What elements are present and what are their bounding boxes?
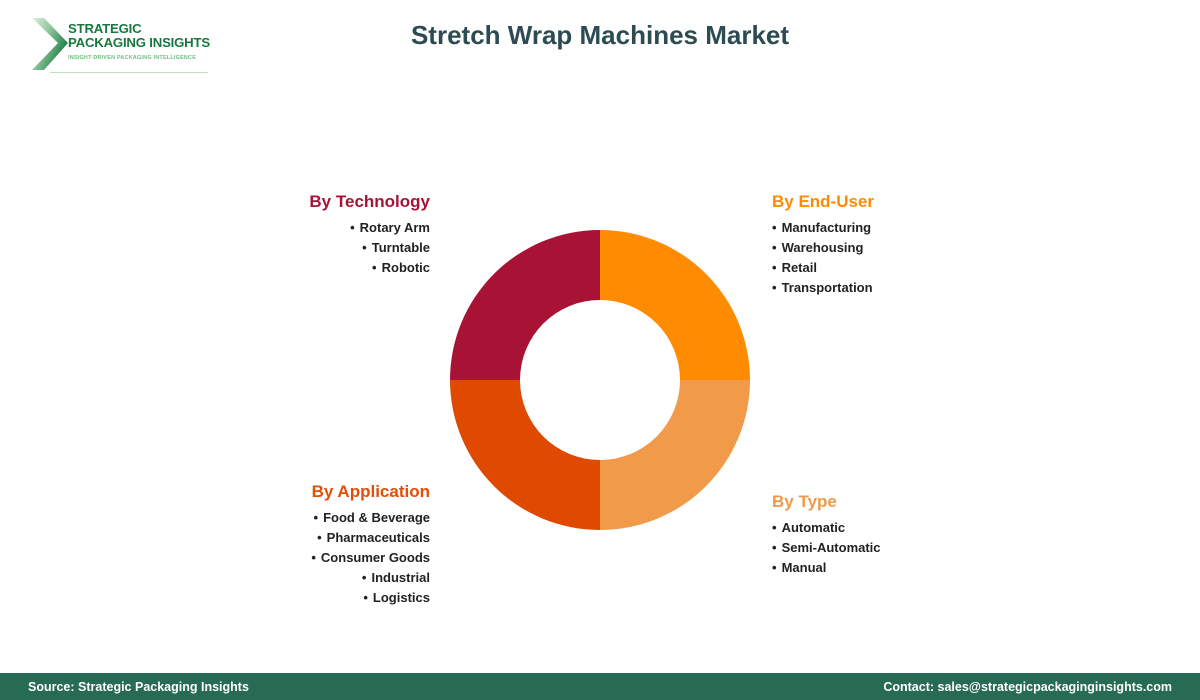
donut-segment-application[interactable] xyxy=(450,380,600,530)
list-item: Turntable xyxy=(180,238,430,258)
category-application-list: Food & Beverage Pharmaceuticals Consumer… xyxy=(180,508,430,608)
category-application: By Application Food & Beverage Pharmaceu… xyxy=(180,482,430,608)
list-item: Rotary Arm xyxy=(180,218,430,238)
list-item: Semi-Automatic xyxy=(772,538,1072,558)
footer-contact[interactable]: Contact: sales@strategicpackaginginsight… xyxy=(883,680,1172,694)
category-type: By Type Automatic Semi-Automatic Manual xyxy=(772,492,1072,578)
category-type-title: By Type xyxy=(772,492,1072,512)
list-item: Pharmaceuticals xyxy=(180,528,430,548)
list-item: Manual xyxy=(772,558,1072,578)
category-technology-list: Rotary Arm Turntable Robotic xyxy=(180,218,430,278)
list-item: Retail xyxy=(772,258,1072,278)
footer-bar: Source: Strategic Packaging Insights Con… xyxy=(0,673,1200,700)
list-item: Manufacturing xyxy=(772,218,1072,238)
category-type-list: Automatic Semi-Automatic Manual xyxy=(772,518,1072,578)
list-item: Robotic xyxy=(180,258,430,278)
category-enduser-title: By End-User xyxy=(772,192,1072,212)
logo-divider xyxy=(50,72,208,73)
list-item: Warehousing xyxy=(772,238,1072,258)
category-enduser: By End-User Manufacturing Warehousing Re… xyxy=(772,192,1072,298)
list-item: Transportation xyxy=(772,278,1072,298)
donut-chart-svg xyxy=(450,230,750,530)
list-item: Food & Beverage xyxy=(180,508,430,528)
list-item: Consumer Goods xyxy=(180,548,430,568)
page-title: Stretch Wrap Machines Market xyxy=(0,20,1200,51)
list-item: Industrial xyxy=(180,568,430,588)
category-application-title: By Application xyxy=(180,482,430,502)
category-technology: By Technology Rotary Arm Turntable Robot… xyxy=(180,192,430,278)
donut-segment-technology[interactable] xyxy=(450,230,600,380)
donut-segment-enduser[interactable] xyxy=(600,230,750,380)
donut-segment-type[interactable] xyxy=(600,380,750,530)
category-technology-title: By Technology xyxy=(180,192,430,212)
list-item: Automatic xyxy=(772,518,1072,538)
category-enduser-list: Manufacturing Warehousing Retail Transpo… xyxy=(772,218,1072,298)
footer-source: Source: Strategic Packaging Insights xyxy=(28,680,249,694)
list-item: Logistics xyxy=(180,588,430,608)
logo-tagline: INSIGHT-DRIVEN PACKAGING INTELLIGENCE xyxy=(68,55,208,61)
donut-chart xyxy=(450,230,750,530)
